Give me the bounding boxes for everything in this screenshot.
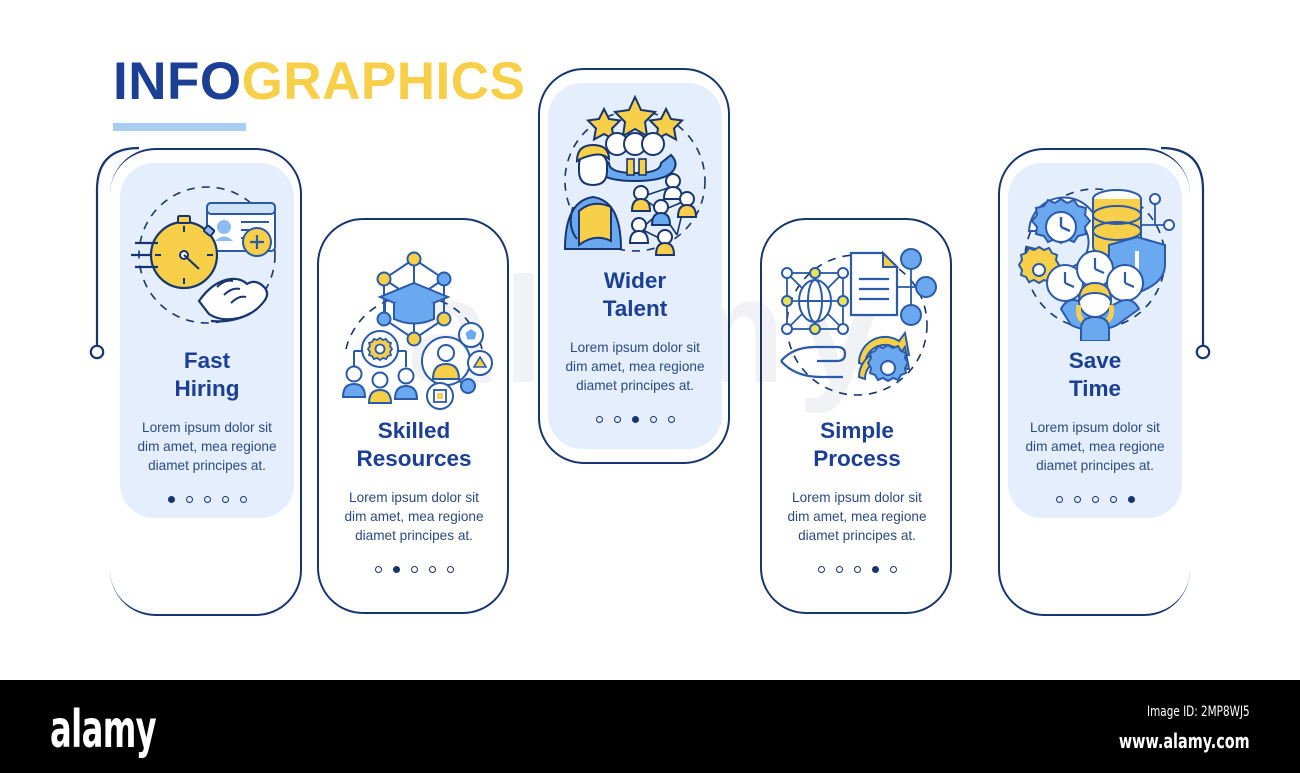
card-step-dots[interactable] [327,566,501,573]
card-title: Wider Talent [548,267,722,324]
step-dot-4[interactable] [872,566,879,573]
step-dot-1[interactable] [818,566,825,573]
footer-meta: Image ID: 2MP8WJ5 www.alamy.com [1068,704,1250,753]
card-title-line1: Save [1016,347,1174,375]
step-dot-1[interactable] [596,416,603,423]
infographic-canvas: INFOGRAPHICS alamy [0,0,1300,773]
step-dot-3[interactable] [204,496,211,503]
card-body: Lorem ipsum dolor sit dim amet, mea regi… [548,338,722,396]
card-body: Lorem ipsum dolor sit dim amet, mea regi… [120,418,294,476]
step-dot-5[interactable] [447,566,454,573]
alamy-logo: alamy [50,700,156,760]
step-dot-2[interactable] [393,566,400,573]
card-step-dots[interactable] [548,416,722,423]
step-dot-5[interactable] [668,416,675,423]
card-panel: Skilled Resources Lorem ipsum dolor sit … [327,233,501,599]
card-panel: Simple Process Lorem ipsum dolor sit dim… [770,233,944,599]
step-dot-3[interactable] [1092,496,1099,503]
step-dot-5[interactable] [890,566,897,573]
image-id-label: Image ID: 2MP8WJ5 [1119,704,1250,720]
step-dot-2[interactable] [1074,496,1081,503]
card-title-line1: Simple [778,417,936,445]
footer-bar: alamy Image ID: 2MP8WJ5 www.alamy.com [0,680,1300,773]
card-title: Simple Process [770,417,944,474]
card-step-dots[interactable] [1008,496,1182,503]
card-panel: Fast Hiring Lorem ipsum dolor sit dim am… [120,163,294,518]
card-title-line2: Resources [335,445,493,473]
card-title: Skilled Resources [327,417,501,474]
card-title-line1: Wider [556,267,714,295]
card-panel: Save Time Lorem ipsum dolor sit dim amet… [1008,163,1182,518]
cards-container: Fast Hiring Lorem ipsum dolor sit dim am… [0,0,1300,660]
step-dot-5[interactable] [240,496,247,503]
card-title-line1: Skilled [335,417,493,445]
step-dot-5[interactable] [1128,496,1135,503]
step-dot-1[interactable] [375,566,382,573]
card-title-line1: Fast [128,347,286,375]
step-dot-2[interactable] [614,416,621,423]
step-dot-3[interactable] [632,416,639,423]
step-dot-3[interactable] [411,566,418,573]
card-title-line2: Talent [556,295,714,323]
icon-clock-gear-database-shield [1009,169,1181,341]
card-title-line2: Time [1016,375,1174,403]
step-dot-3[interactable] [854,566,861,573]
card-title-line2: Process [778,445,936,473]
card-title: Save Time [1008,347,1182,404]
step-dot-4[interactable] [1110,496,1117,503]
card-title: Fast Hiring [120,347,294,404]
card-body: Lorem ipsum dolor sit dim amet, mea regi… [770,488,944,546]
step-dot-4[interactable] [429,566,436,573]
card-step-dots[interactable] [120,496,294,503]
step-dot-2[interactable] [186,496,193,503]
card-title-line2: Hiring [128,375,286,403]
step-dot-1[interactable] [1056,496,1063,503]
icon-stopwatch-profile-handshake [121,169,293,341]
step-dot-1[interactable] [168,496,175,503]
card-body: Lorem ipsum dolor sit dim amet, mea regi… [1008,418,1182,476]
card-panel: Wider Talent Lorem ipsum dolor sit dim a… [548,83,722,449]
icon-graduation-network [328,239,500,411]
step-dot-4[interactable] [222,496,229,503]
icon-globe-document-gear [771,239,943,411]
icon-stars-team-network [549,89,721,261]
step-dot-4[interactable] [650,416,657,423]
card-body: Lorem ipsum dolor sit dim amet, mea regi… [327,488,501,546]
card-step-dots[interactable] [770,566,944,573]
website-url: www.alamy.com [1119,729,1250,753]
step-dot-2[interactable] [836,566,843,573]
